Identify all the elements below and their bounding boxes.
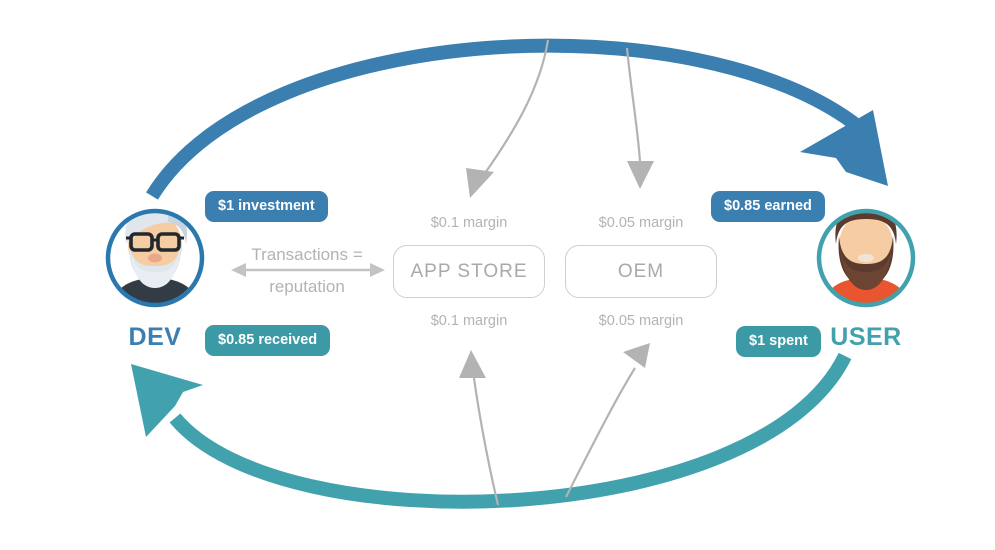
actor-label-user: USER (815, 323, 917, 352)
badge-received: $0.85 received (205, 325, 330, 356)
transactions-arrow-icon (231, 263, 385, 277)
appstore-margin-out-arrow-icon (474, 378, 498, 505)
transactions-label-line2: reputation (222, 277, 392, 297)
intermediary-box-oem[interactable]: OEM (565, 245, 717, 298)
oem-margin-in-arrowhead-icon (627, 161, 654, 189)
oem-margin-out-arrowhead-icon (623, 343, 650, 368)
oem-margin-in-arrow-icon (627, 48, 640, 162)
diagram-canvas: DEV USER $1 investment $0.85 earned $0.8… (0, 0, 995, 550)
badge-spent: $1 spent (736, 326, 821, 357)
margin-label-appstore-bottom: $0.1 margin (393, 313, 545, 329)
bottom-arc-flow (131, 356, 845, 502)
appstore-margin-in-arrowhead-icon (466, 168, 494, 198)
appstore-margin-in-arrow-icon (483, 40, 548, 176)
top-arc-flow (152, 46, 888, 196)
badge-earned: $0.85 earned (711, 191, 825, 222)
margin-down-arrows (466, 40, 654, 198)
user-avatar-icon (819, 205, 913, 320)
badge-investment: $1 investment (205, 191, 328, 222)
margin-label-oem-bottom: $0.05 margin (565, 313, 717, 329)
intermediary-box-appstore[interactable]: APP STORE (393, 245, 545, 298)
oem-margin-out-arrow-icon (566, 368, 635, 497)
margin-label-oem-top: $0.05 margin (565, 215, 717, 231)
bottom-arc-path (175, 356, 845, 502)
margin-label-appstore-top: $0.1 margin (393, 215, 545, 231)
appstore-margin-out-arrowhead-icon (459, 350, 486, 378)
actor-label-dev: DEV (104, 323, 206, 352)
transactions-label-line1: Transactions = (222, 245, 392, 265)
top-arc-path (152, 46, 860, 196)
developer-avatar-icon (108, 207, 202, 320)
